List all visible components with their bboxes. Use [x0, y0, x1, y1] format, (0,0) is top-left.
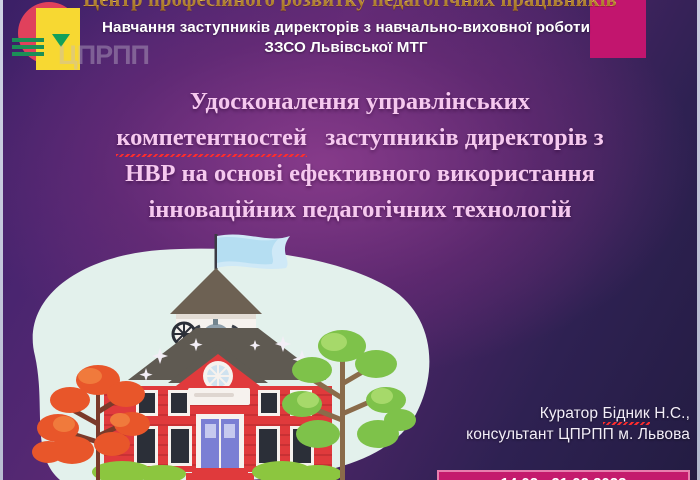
curator-label: Куратор [540, 405, 603, 422]
cprpp-logo: ЦПРПП [6, 2, 138, 80]
course-subtitle: Навчання заступників директорів з навчал… [96, 18, 596, 58]
title-line-4: інноваційних педагогічних технологій [60, 192, 660, 228]
curator-line-2: консультант ЦПРПП м. Львова [432, 424, 690, 445]
misspelled-word-kompetentnostei: компетентностей [116, 120, 307, 156]
logo-abbreviation: ЦПРПП [58, 40, 149, 71]
curator-initials: Н.С., [650, 405, 690, 422]
curator-info: Куратор Бідник Н.С., консультант ЦПРПП м… [432, 403, 690, 446]
entrance-steps [192, 468, 248, 473]
course-subtitle-line-1: Навчання заступників директорів з навчал… [102, 19, 531, 36]
title-line-2: компетентностей заступників директорів з [60, 120, 660, 156]
title-line-2-rest: заступників директорів з [325, 124, 603, 151]
logo-bar-icon [12, 45, 44, 49]
school-building-illustration [0, 228, 440, 480]
presentation-slide: Центр професійного розвитку педагогічних… [0, 0, 700, 480]
curator-line-1: Куратор Бідник Н.С., [432, 403, 690, 424]
logo-bar-icon [12, 38, 44, 42]
title-line-1: Удосконалення управлінських [60, 84, 660, 120]
title-line-3: НВР на основі ефективного використання [60, 156, 660, 192]
logo-bar-icon [12, 52, 44, 56]
date-badge: 14.02 - 21.02.2023 [437, 470, 690, 480]
slide-main-title: Удосконалення управлінських компетентнос… [60, 84, 660, 228]
misspelled-word-bidnyk: Бідник [603, 403, 650, 424]
